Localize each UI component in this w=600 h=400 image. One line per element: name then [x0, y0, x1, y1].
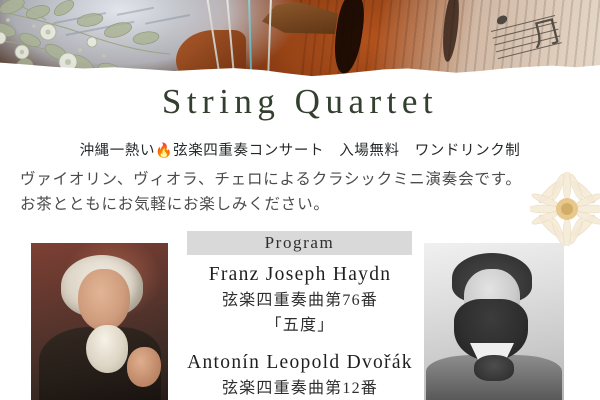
composer-name: Franz Joseph Haydn — [176, 262, 424, 288]
haydn-face — [78, 269, 130, 331]
fire-icon: 🔥 — [155, 143, 173, 159]
piece-nickname: 「五度」 — [176, 313, 424, 338]
program-heading: Program — [187, 231, 412, 255]
portrait-haydn — [31, 243, 168, 400]
description-line-2: お茶とともにお気軽にお楽しみください。 — [20, 192, 580, 217]
tagline: 沖縄一熱い🔥弦楽四重奏コンサート 入場無料 ワンドリンク制 — [0, 139, 600, 160]
portrait-dvorak — [424, 243, 564, 400]
program-list: Franz Joseph Haydn 弦楽四重奏曲第76番 「五度」 Anton… — [176, 262, 424, 400]
piece-title: 弦楽四重奏曲第76番 — [176, 288, 424, 313]
concert-flyer: ⺆ — [0, 0, 600, 400]
tagline-text-after: 弦楽四重奏コンサート 入場無料 ワンドリンク制 — [173, 143, 520, 159]
description-line-1: ヴァイオリン、ヴィオラ、チェロによるクラシックミニ演奏会です。 — [20, 167, 580, 192]
description: ヴァイオリン、ヴィオラ、チェロによるクラシックミニ演奏会です。 お茶とともにお気… — [20, 167, 580, 217]
page-title: String Quartet — [0, 82, 600, 122]
hero-photo-banner: ⺆ — [0, 0, 600, 86]
haydn-cravat — [86, 325, 128, 373]
tagline-text-before: 沖縄一熱い — [80, 143, 156, 159]
bass-clef-icon: ⺆ — [528, 16, 564, 52]
piece-title: 弦楽四重奏曲第12番 — [176, 376, 424, 400]
composer-name: Antonín Leopold Dvořák — [176, 350, 424, 376]
music-note-icon — [495, 14, 509, 27]
program-entry: Franz Joseph Haydn 弦楽四重奏曲第76番 「五度」 — [176, 262, 424, 338]
dvorak-necktie — [474, 355, 514, 381]
program-heading-band: Program — [187, 231, 412, 255]
program-entry: Antonín Leopold Dvořák 弦楽四重奏曲第12番 — [176, 350, 424, 400]
